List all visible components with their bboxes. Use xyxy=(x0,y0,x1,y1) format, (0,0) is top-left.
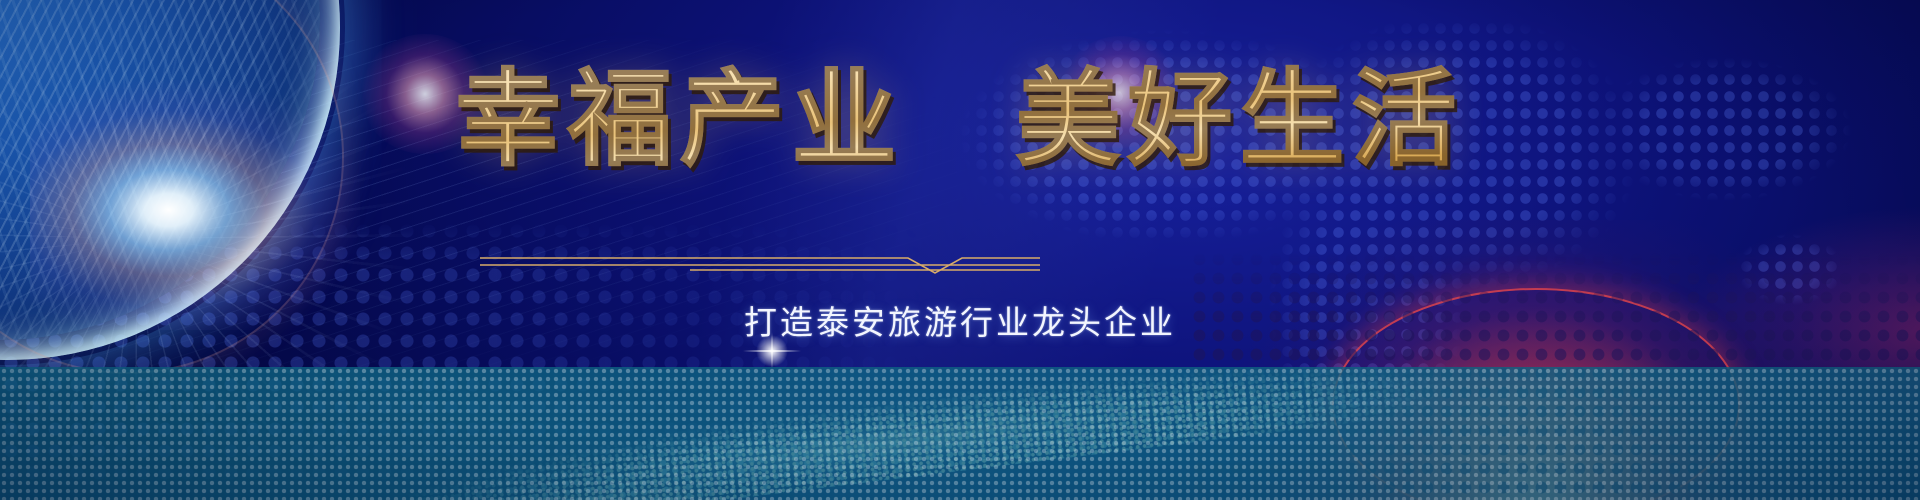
gold-divider-with-v-notch-icon xyxy=(0,246,1920,282)
hero-banner: 幸福产业 美好生活 打造泰安旅游行业龙头企业 xyxy=(0,0,1920,500)
banner-subtitle: 打造泰安旅游行业龙头企业 xyxy=(0,296,1920,344)
banner-headline: 幸福产业 美好生活 xyxy=(0,62,1920,178)
bottom-bar-dot-texture xyxy=(0,367,1920,500)
divider-svg xyxy=(0,246,1920,282)
bottom-overlay-bar xyxy=(0,367,1920,500)
